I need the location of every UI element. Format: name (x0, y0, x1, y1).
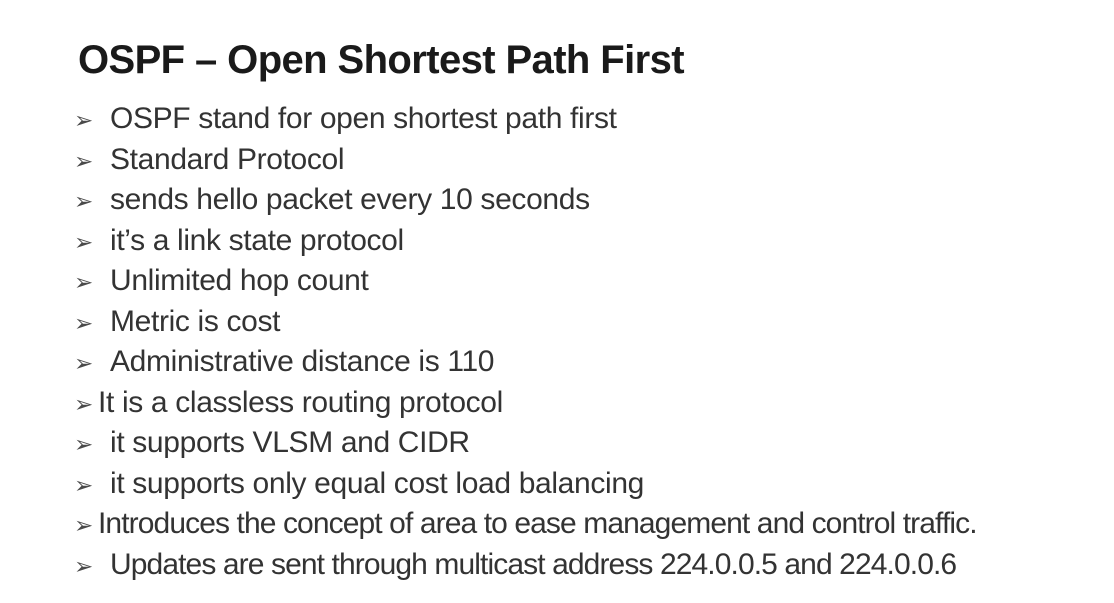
arrowhead-bullet-icon: ➢ (74, 304, 98, 345)
list-item-label: Metric is cost (98, 302, 280, 343)
arrowhead-bullet-icon: ➢ (74, 182, 98, 223)
arrowhead-bullet-icon: ➢ (74, 344, 98, 385)
list-item-label: Unlimited hop count (98, 261, 369, 302)
list-item-label: it supports VLSM and CIDR (98, 423, 470, 464)
slide-canvas: OSPF – Open Shortest Path First ➢OSPF st… (0, 0, 1114, 603)
list-item-label: it’s a link state protocol (98, 221, 404, 262)
list-item: ➢it supports VLSM and CIDR (74, 423, 1108, 464)
arrowhead-bullet-icon: ➢ (74, 223, 98, 264)
list-item: ➢it supports only equal cost load balanc… (74, 464, 1108, 505)
bullet-list: ➢OSPF stand for open shortest path first… (74, 99, 1108, 585)
list-item: ➢Updates are sent through multicast addr… (74, 545, 1108, 586)
list-item-label: Administrative distance is 110 (98, 342, 494, 383)
list-item-label: sends hello packet every 10 seconds (98, 180, 590, 221)
list-item-label: It is a classless routing protocol (98, 383, 503, 424)
list-item-label: Standard Protocol (98, 140, 344, 181)
arrowhead-bullet-icon: ➢ (74, 101, 98, 142)
arrowhead-bullet-icon: ➢ (74, 263, 98, 304)
list-item: ➢Standard Protocol (74, 140, 1108, 181)
arrowhead-bullet-icon: ➢ (74, 506, 98, 547)
arrowhead-bullet-icon: ➢ (74, 466, 98, 507)
list-item: ➢Unlimited hop count (74, 261, 1108, 302)
arrowhead-bullet-icon: ➢ (74, 425, 98, 466)
list-item: ➢Metric is cost (74, 302, 1108, 343)
list-item: ➢Introduces the concept of area to ease … (74, 504, 1108, 545)
list-item: ➢it’s a link state protocol (74, 221, 1108, 262)
arrowhead-bullet-icon: ➢ (74, 547, 98, 588)
arrowhead-bullet-icon: ➢ (74, 385, 98, 426)
list-item-label: Introduces the concept of area to ease m… (98, 504, 977, 545)
list-item: ➢sends hello packet every 10 seconds (74, 180, 1108, 221)
list-item: ➢It is a classless routing protocol (74, 383, 1108, 424)
list-item-label: OSPF stand for open shortest path first (98, 99, 617, 140)
list-item: ➢OSPF stand for open shortest path first (74, 99, 1108, 140)
list-item: ➢Administrative distance is 110 (74, 342, 1108, 383)
list-item-label: Updates are sent through multicast addre… (98, 545, 956, 586)
list-item-label: it supports only equal cost load balanci… (98, 464, 644, 505)
page-title: OSPF – Open Shortest Path First (78, 35, 684, 85)
arrowhead-bullet-icon: ➢ (74, 142, 98, 183)
